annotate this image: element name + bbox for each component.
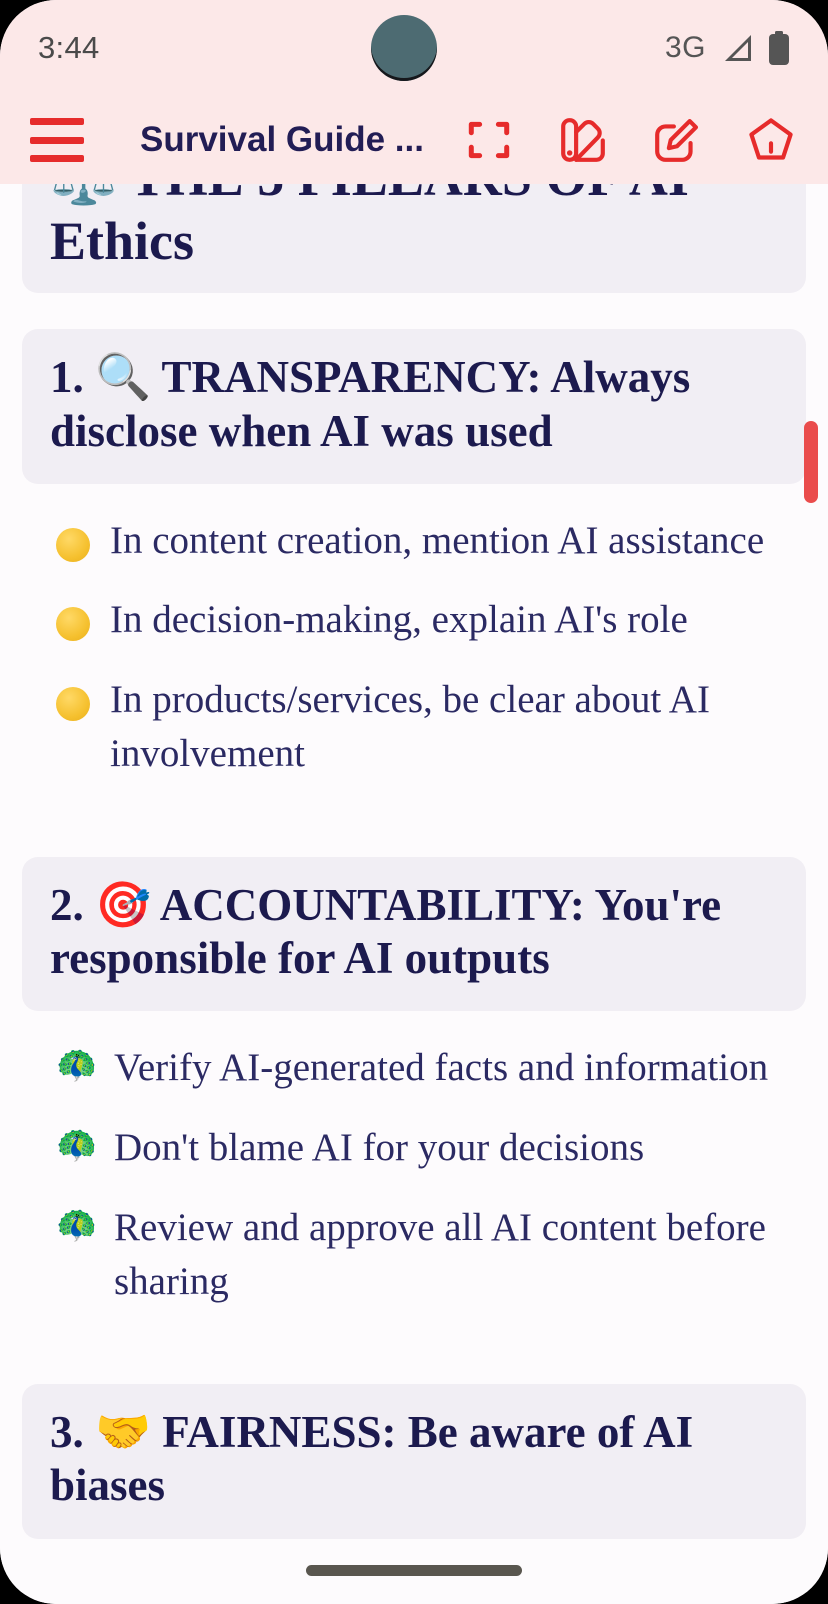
yellow-circle-bullet-icon	[56, 528, 90, 562]
section-heading-3: 3. 🤝 FAIRNESS: Be aware of AI biases	[22, 1384, 806, 1538]
list-item: 🦚 Verify AI-generated facts and informat…	[56, 1041, 806, 1095]
section-heading-2: 2. 🎯 ACCOUNTABILITY: You're responsible …	[22, 857, 806, 1011]
status-bar: 3:44 3G	[0, 0, 828, 96]
color-palette-icon[interactable]	[558, 115, 608, 165]
app-title: Survival Guide ...	[140, 120, 424, 160]
peacock-bullet-icon: 🦚	[56, 1041, 94, 1089]
section-heading-1: 1. 🔍 TRANSPARENCY: Always disclose when …	[22, 329, 806, 483]
peacock-bullet-icon: 🦚	[56, 1201, 94, 1249]
app-bar-actions	[464, 115, 802, 165]
app-bar: Survival Guide ...	[0, 96, 828, 184]
list-item-text: In content creation, mention AI assistan…	[110, 514, 764, 568]
phone-screen: 3:44 3G Survival Guide ...	[0, 0, 828, 1604]
bullet-list-2: 🦚 Verify AI-generated facts and informat…	[22, 1011, 806, 1348]
list-item-text: In products/services, be clear about AI …	[110, 673, 806, 781]
list-item: In products/services, be clear about AI …	[56, 673, 806, 781]
scrollbar[interactable]	[802, 184, 820, 1604]
document-title: ⚖️ THE 5 PILLARS OF AI Ethics	[22, 184, 806, 293]
list-item: In decision-making, explain AI's role	[56, 593, 806, 647]
list-item: 🦚 Don't blame AI for your decisions	[56, 1121, 806, 1175]
list-item-text: Review and approve all AI content before…	[114, 1201, 806, 1309]
bullet-list-1: In content creation, mention AI assistan…	[22, 484, 806, 821]
hamburger-menu-icon[interactable]	[30, 118, 84, 162]
status-time: 3:44	[38, 30, 100, 66]
home-icon[interactable]	[746, 115, 796, 165]
document-content[interactable]: ⚖️ THE 5 PILLARS OF AI Ethics 1. 🔍 TRANS…	[0, 184, 828, 1604]
peacock-bullet-icon: 🦚	[56, 1121, 94, 1169]
menu-bar-1	[30, 118, 84, 125]
yellow-circle-bullet-icon	[56, 687, 90, 721]
edit-pencil-icon[interactable]	[652, 115, 702, 165]
yellow-circle-bullet-icon	[56, 607, 90, 641]
list-item-text: Verify AI-generated facts and informatio…	[114, 1041, 768, 1095]
list-item-text: Don't blame AI for your decisions	[114, 1121, 644, 1175]
fullscreen-icon[interactable]	[464, 115, 514, 165]
battery-full-icon	[768, 31, 790, 65]
signal-triangle-icon	[720, 33, 754, 63]
camera-cutout	[371, 15, 437, 81]
list-item: In content creation, mention AI assistan…	[56, 514, 806, 568]
scrollbar-thumb[interactable]	[804, 421, 818, 503]
list-item: 🦚 Review and approve all AI content befo…	[56, 1201, 806, 1309]
list-item-text: In decision-making, explain AI's role	[110, 593, 688, 647]
network-type-label: 3G	[665, 31, 706, 65]
menu-bar-3	[30, 155, 84, 162]
menu-bar-2	[30, 137, 84, 144]
status-indicators: 3G	[665, 31, 790, 65]
home-gesture-bar[interactable]	[306, 1565, 522, 1576]
